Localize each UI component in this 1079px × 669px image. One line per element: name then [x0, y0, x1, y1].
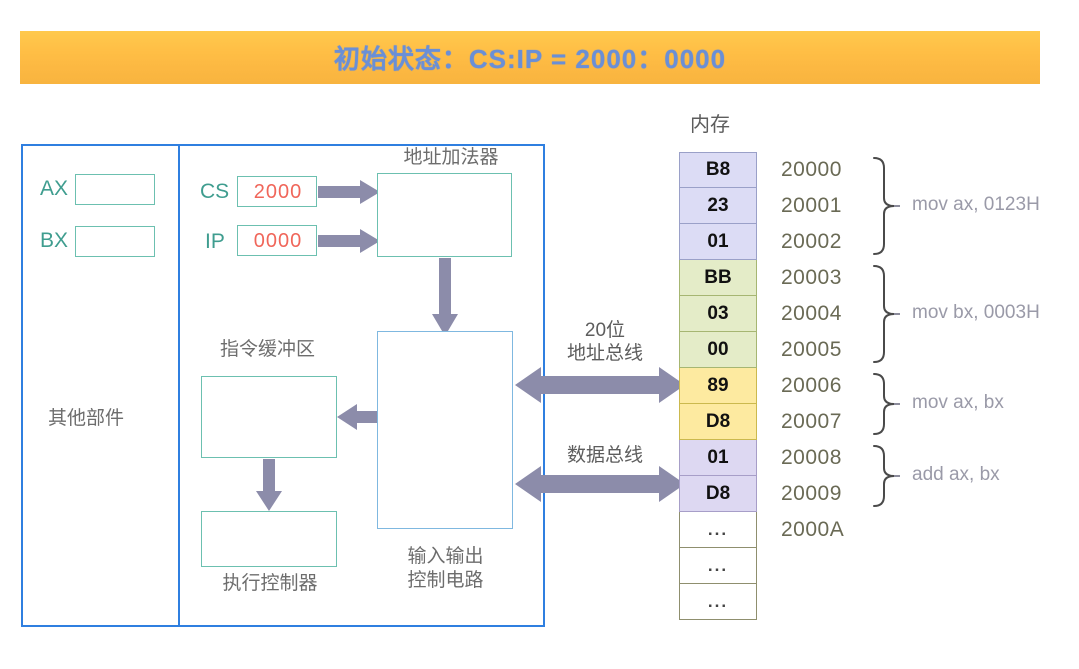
- memory-address: 20007: [781, 410, 842, 434]
- memory-cell-value: 23: [707, 195, 728, 217]
- memory-cell: 89: [679, 368, 757, 404]
- memory-address: 20004: [781, 302, 842, 326]
- memory-title: 内存: [690, 108, 730, 137]
- memory-cell-value: D8: [706, 483, 730, 505]
- register-label-cs: CS: [200, 180, 229, 204]
- instruction-brace: [872, 156, 900, 261]
- memory-cell-value: D8: [706, 411, 730, 433]
- diagram-canvas: 初始状态：CS:IP = 2000：0000 AX BX 其他部件 CS 200…: [0, 0, 1079, 669]
- execution-controller-label: 执行控制器: [190, 572, 350, 596]
- memory-cell-value: ...: [708, 556, 728, 576]
- address-adder-label: 地址加法器: [381, 146, 521, 170]
- memory-cell-value: B8: [706, 159, 730, 181]
- memory-column: B82301BB030089D801D8.........: [679, 152, 757, 620]
- address-adder-box: [377, 173, 512, 257]
- register-value-cs: 2000: [238, 177, 318, 208]
- memory-cell: ...: [679, 512, 757, 548]
- register-field-cs[interactable]: 2000: [237, 176, 317, 207]
- memory-cell-value: ...: [708, 592, 728, 612]
- memory-address: 20006: [781, 374, 842, 398]
- memory-cell: 23: [679, 188, 757, 224]
- memory-cell: 00: [679, 332, 757, 368]
- memory-cell-value: 01: [707, 231, 728, 253]
- memory-cell: BB: [679, 260, 757, 296]
- title-banner: 初始状态：CS:IP = 2000：0000: [20, 31, 1040, 84]
- address-bus-label: 20位 地址总线: [545, 320, 665, 366]
- execution-controller-box: [201, 511, 337, 567]
- io-control-circuit-box: [377, 331, 513, 529]
- register-field-ip[interactable]: 0000: [237, 225, 317, 256]
- instruction-brace: [872, 444, 900, 513]
- io-control-circuit-label: 输入输出 控制电路: [373, 545, 518, 593]
- memory-cell: 01: [679, 440, 757, 476]
- arrow-adder-to-io: [432, 258, 458, 336]
- memory-cell: ...: [679, 548, 757, 584]
- other-components-label: 其他部件: [48, 407, 124, 431]
- instruction-text: mov ax, 0123H: [912, 194, 1040, 216]
- instruction-brace: [872, 372, 900, 441]
- memory-cell: B8: [679, 152, 757, 188]
- memory-cell-value: 03: [707, 303, 728, 325]
- memory-address: 20009: [781, 482, 842, 506]
- memory-cell: ...: [679, 584, 757, 620]
- instruction-brace: [872, 264, 900, 369]
- memory-address: 20000: [781, 158, 842, 182]
- memory-cell-value: BB: [704, 267, 731, 289]
- instruction-text: add ax, bx: [912, 464, 1000, 486]
- register-field-ax[interactable]: [75, 174, 155, 205]
- arrow-buffer-to-controller: [256, 459, 282, 511]
- register-value-bx: [76, 227, 156, 258]
- memory-cell: 01: [679, 224, 757, 260]
- memory-cell-value: 01: [707, 447, 728, 469]
- memory-cell: D8: [679, 404, 757, 440]
- memory-cell: 03: [679, 296, 757, 332]
- register-label-bx: BX: [40, 229, 68, 253]
- register-label-ax: AX: [40, 177, 68, 201]
- memory-cell-value: 00: [707, 339, 728, 361]
- register-value-ip: 0000: [238, 226, 318, 257]
- memory-cell: D8: [679, 476, 757, 512]
- memory-address: 20008: [781, 446, 842, 470]
- register-value-ax: [76, 175, 156, 206]
- instruction-buffer-box: [201, 376, 337, 458]
- memory-address: 20001: [781, 194, 842, 218]
- page-title: 初始状态：CS:IP = 2000：0000: [334, 39, 726, 76]
- cpu-section-divider: [178, 146, 180, 625]
- instruction-text: mov ax, bx: [912, 392, 1004, 414]
- memory-address: 2000A: [781, 518, 844, 542]
- memory-address: 20002: [781, 230, 842, 254]
- memory-address: 20005: [781, 338, 842, 362]
- memory-address: 20003: [781, 266, 842, 290]
- data-bus-arrow: [515, 464, 685, 504]
- memory-cell-value: 89: [707, 375, 728, 397]
- address-bus-arrow: [515, 365, 685, 405]
- register-label-ip: IP: [205, 230, 225, 254]
- instruction-text: mov bx, 0003H: [912, 302, 1040, 324]
- arrow-cs-to-adder: [318, 180, 380, 204]
- instruction-buffer-label: 指令缓冲区: [190, 338, 345, 362]
- arrow-ip-to-adder: [318, 229, 380, 253]
- register-field-bx[interactable]: [75, 226, 155, 257]
- memory-cell-value: ...: [708, 520, 728, 540]
